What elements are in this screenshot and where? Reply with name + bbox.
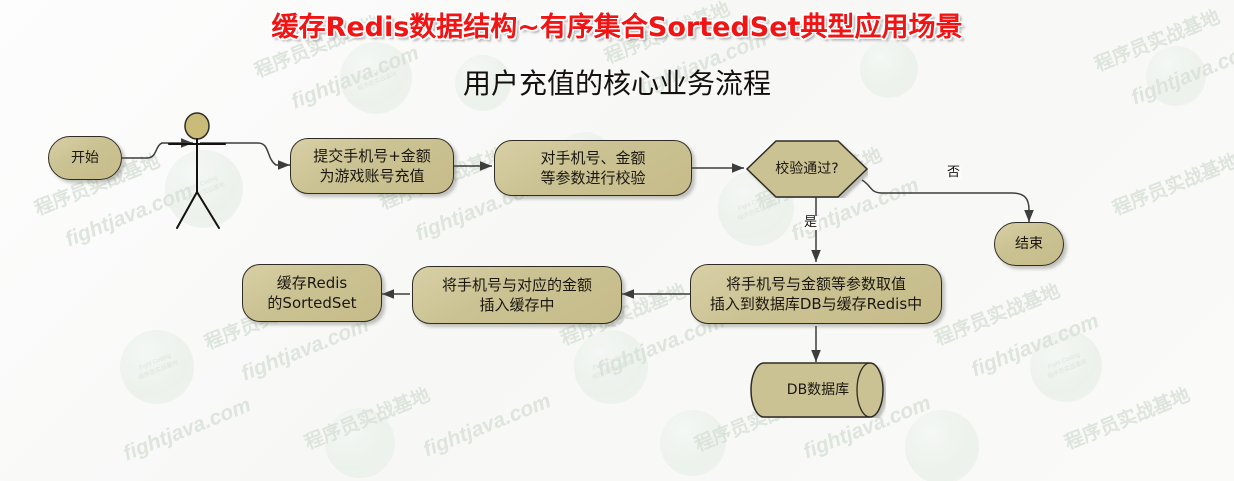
edge-label-no: 否 [945, 166, 962, 180]
node-line-1: 将手机号与金额等参数取值 [726, 275, 906, 293]
node-insert-db-redis-label: 将手机号与金额等参数取值 插入到数据库DB与缓存Redis中 [706, 274, 926, 314]
edge-label-yes: 是 [802, 216, 819, 230]
diagram-canvas: Fight Coding程序员实战基地 Fight Coding程序员实战基地 … [0, 0, 1234, 481]
node-line-1: 将手机号与对应的金额 [442, 276, 592, 294]
actor-head-icon [185, 113, 209, 139]
node-decision-label: 校验通过? [775, 160, 838, 179]
node-redis-sortedset-label: 缓存Redis 的SortedSet [263, 273, 360, 313]
node-decision-validate-pass[interactable]: 校验通过? [746, 140, 868, 198]
node-insert-cache[interactable]: 将手机号与对应的金额 插入缓存中 [412, 266, 622, 324]
node-database-label: DB数据库 [787, 381, 849, 400]
page-title: 缓存Redis数据结构~有序集合SortedSet典型应用场景 [0, 5, 1234, 44]
node-line-1: 缓存Redis [277, 274, 347, 292]
node-line-2: 的SortedSet [267, 294, 356, 312]
page-subtitle: 用户充值的核心业务流程 [0, 62, 1234, 102]
node-submit-recharge-label: 提交手机号+金额 为游戏账号充值 [309, 146, 435, 186]
node-end-label: 结束 [1011, 235, 1047, 254]
node-line-1: 提交手机号+金额 [313, 147, 431, 165]
node-line-1: 对手机号、金额 [540, 149, 645, 167]
node-line-2: 为游戏账号充值 [319, 167, 424, 185]
node-line-2: 等参数进行校验 [540, 169, 645, 187]
node-end[interactable]: 结束 [994, 222, 1064, 266]
node-start[interactable]: 开始 [48, 136, 122, 180]
edge-decision-end [862, 180, 1029, 222]
actor-user[interactable] [163, 112, 239, 230]
actor-leg-right-line [197, 192, 219, 228]
node-redis-sortedset[interactable]: 缓存Redis 的SortedSet [242, 264, 382, 322]
node-start-label: 开始 [67, 149, 103, 168]
node-validate-params-label: 对手机号、金额 等参数进行校验 [536, 148, 649, 188]
actor-leg-left-line [177, 192, 197, 228]
node-database[interactable]: DB数据库 [750, 362, 886, 418]
node-line-2: 插入缓存中 [479, 296, 554, 314]
node-line-2: 插入到数据库DB与缓存Redis中 [710, 295, 922, 313]
node-validate-params[interactable]: 对手机号、金额 等参数进行校验 [494, 140, 692, 196]
node-insert-db-redis[interactable]: 将手机号与金额等参数取值 插入到数据库DB与缓存Redis中 [690, 264, 942, 324]
node-submit-recharge[interactable]: 提交手机号+金额 为游戏账号充值 [290, 138, 454, 194]
node-insert-cache-label: 将手机号与对应的金额 插入缓存中 [438, 275, 596, 315]
